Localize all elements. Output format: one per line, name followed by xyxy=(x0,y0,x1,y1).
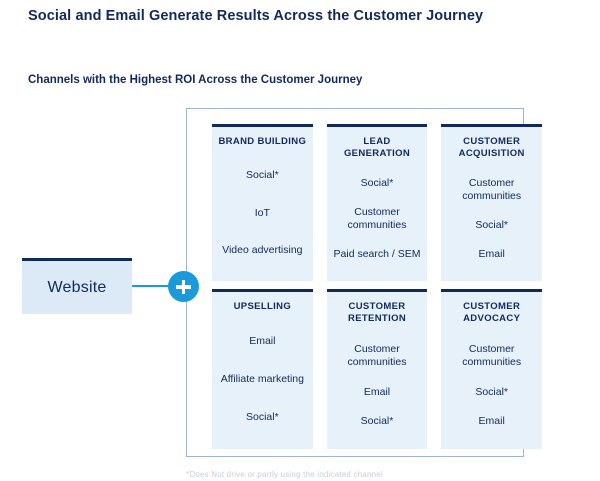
website-connector-line xyxy=(132,285,170,287)
card-item: Social* xyxy=(246,411,279,424)
card-item: Email xyxy=(364,386,390,399)
card-title: CUSTOMER ADVOCACY xyxy=(447,301,536,325)
card-item: Email xyxy=(479,415,505,428)
card-row-top: BRAND BUILDING Social* IoT Video adverti… xyxy=(212,124,542,281)
footnote: *Does Not drive or partly using the indi… xyxy=(186,470,383,479)
card-title: BRAND BUILDING xyxy=(218,136,306,148)
chart-subtitle: Channels with the Highest ROI Across the… xyxy=(28,74,362,86)
card-item-list: Email Affiliate marketing Social* xyxy=(218,322,307,437)
card-item: Affiliate marketing xyxy=(221,373,304,386)
card-lead-generation: LEAD GENERATION Social* Customer communi… xyxy=(327,124,428,281)
card-title: LEAD GENERATION xyxy=(333,136,422,160)
page-title: Social and Email Generate Results Across… xyxy=(28,8,483,24)
journey-card-grid: BRAND BUILDING Social* IoT Video adverti… xyxy=(212,124,542,449)
card-item: Video advertising xyxy=(222,244,302,257)
card-item: Email xyxy=(479,248,505,261)
frame-line-bottom xyxy=(186,456,524,457)
card-customer-retention: CUSTOMER RETENTION Customer communities … xyxy=(327,289,428,449)
card-item: Customer communities xyxy=(333,343,422,369)
card-item: IoT xyxy=(255,207,270,220)
card-title: CUSTOMER RETENTION xyxy=(333,301,422,325)
card-customer-acquisition: CUSTOMER ACQUISITION Customer communitie… xyxy=(441,124,542,281)
card-row-bottom: UPSELLING Email Affiliate marketing Soci… xyxy=(212,289,542,449)
card-title: CUSTOMER ACQUISITION xyxy=(447,136,536,160)
frame-line-right-top xyxy=(523,108,524,124)
card-brand-building: BRAND BUILDING Social* IoT Video adverti… xyxy=(212,124,313,281)
card-item-list: Customer communities Email Social* xyxy=(333,334,422,437)
card-item: Email xyxy=(249,335,275,348)
card-item: Customer communities xyxy=(333,206,422,232)
frame-line-top xyxy=(186,108,524,109)
card-item: Social* xyxy=(246,169,279,182)
website-label: Website xyxy=(48,279,107,297)
card-upselling: UPSELLING Email Affiliate marketing Soci… xyxy=(212,289,313,449)
card-item: Social* xyxy=(475,219,508,232)
website-box: Website xyxy=(22,258,132,314)
card-item: Social* xyxy=(361,415,394,428)
card-item-list: Customer communities Social* Email xyxy=(447,169,536,269)
card-item: Paid search / SEM xyxy=(334,248,421,261)
card-customer-advocacy: CUSTOMER ADVOCACY Customer communities S… xyxy=(441,289,542,449)
card-item: Social* xyxy=(361,177,394,190)
card-item: Customer communities xyxy=(447,343,536,369)
card-title: UPSELLING xyxy=(234,301,292,313)
card-item-list: Social* IoT Video advertising xyxy=(218,157,307,269)
card-item: Social* xyxy=(475,386,508,399)
plus-icon xyxy=(168,271,199,302)
card-item-list: Customer communities Social* Email xyxy=(447,334,536,437)
card-item: Customer communities xyxy=(447,177,536,203)
card-item-list: Social* Customer communities Paid search… xyxy=(333,169,422,269)
